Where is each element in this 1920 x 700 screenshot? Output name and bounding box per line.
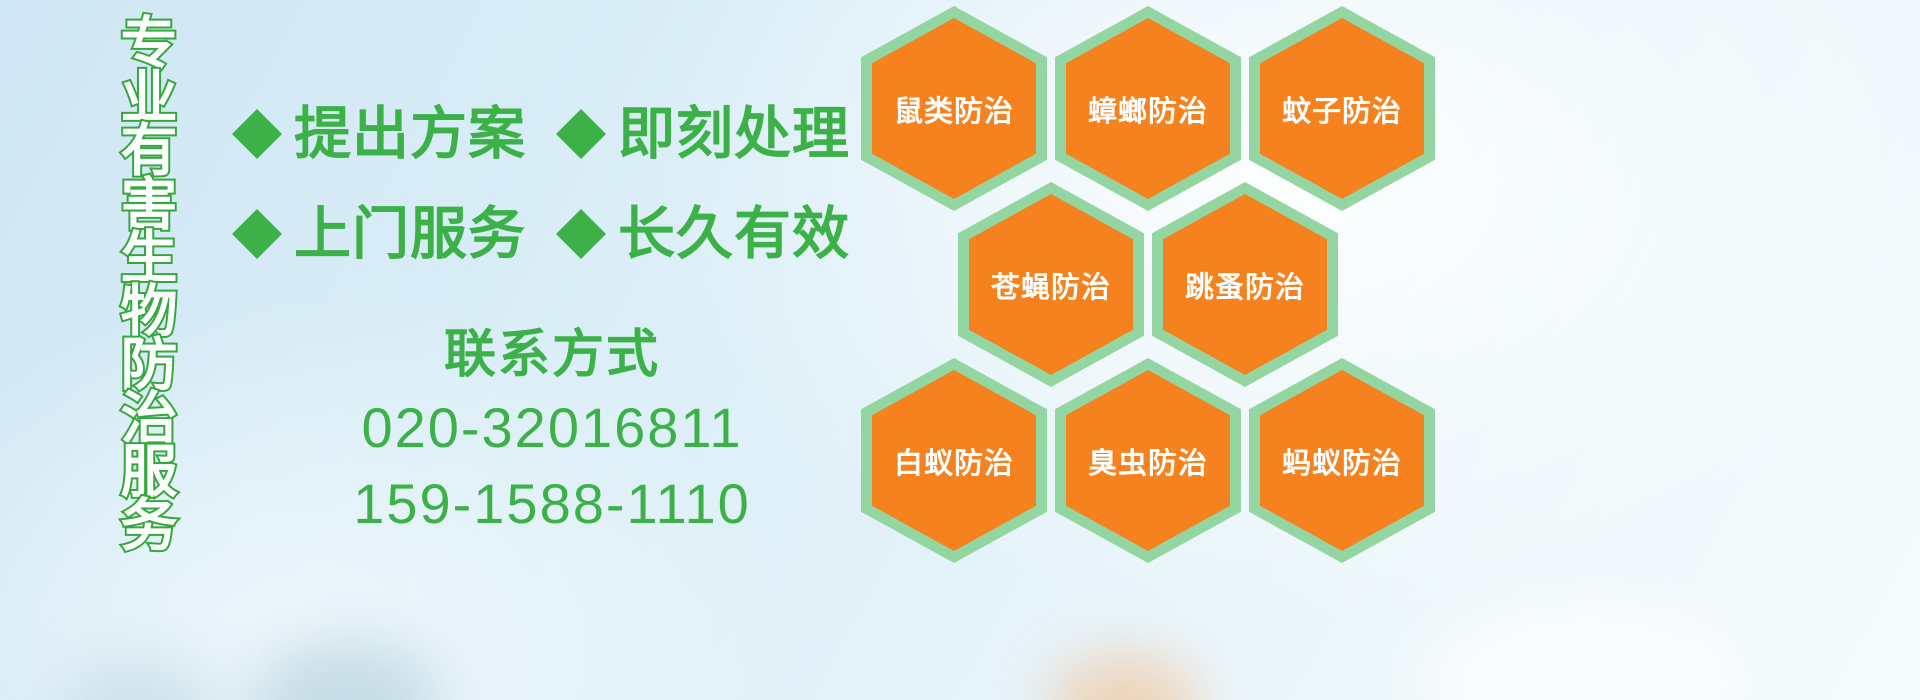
service-honeycomb: 鼠类防治 蟑螂防治 蚊子防治 苍蝇防治 跳蚤防治 白蚁防治: [855, 0, 1475, 700]
diamond-icon: [556, 184, 606, 234]
banner-root: 专 业 有 害 生 物 防 治 服 务 提出方案 即刻处理 上门服务: [0, 0, 1920, 700]
hex-inner: 跳蚤防治: [1163, 194, 1327, 375]
contact-title: 联系方式: [232, 320, 872, 390]
hex-label: 臭虫防治: [1088, 440, 1208, 482]
hex-cell-rodent[interactable]: 鼠类防治: [861, 6, 1047, 211]
feature-label: 上门服务: [294, 204, 526, 264]
feature-item-immediate-handling: 即刻处理: [556, 104, 850, 164]
feature-row: 上门服务 长久有效: [232, 184, 872, 284]
hex-cell-cockroach[interactable]: 蟑螂防治: [1055, 6, 1241, 211]
contact-block: 联系方式 020-32016811 159-1588-1110: [232, 320, 872, 542]
hex-inner: 白蚁防治: [872, 370, 1036, 551]
vertical-slogan-char: 专: [121, 18, 178, 72]
hex-cell-mosquito[interactable]: 蚊子防治: [1249, 6, 1435, 211]
hex-label: 蟑螂防治: [1088, 88, 1208, 130]
hex-inner: 鼠类防治: [872, 18, 1036, 199]
vertical-slogan-char: 生: [121, 232, 178, 286]
hex-label: 鼠类防治: [894, 88, 1014, 130]
background-blur-shape: [250, 640, 440, 700]
diamond-icon: [232, 84, 282, 134]
hex-label: 苍蝇防治: [991, 264, 1111, 306]
hex-label: 蚂蚁防治: [1282, 440, 1402, 482]
background-blur-shape: [60, 660, 220, 700]
feature-item-propose-plan: 提出方案: [232, 104, 526, 164]
contact-phone-landline[interactable]: 020-32016811: [232, 390, 872, 466]
hex-label: 蚊子防治: [1282, 88, 1402, 130]
hex-cell-termite[interactable]: 白蚁防治: [861, 358, 1047, 563]
hex-inner: 苍蝇防治: [969, 194, 1133, 375]
feature-label: 提出方案: [294, 104, 526, 164]
vertical-slogan-char: 害: [121, 179, 178, 233]
vertical-slogan-char: 服: [121, 446, 178, 500]
diamond-icon: [556, 84, 606, 134]
hex-cell-fly[interactable]: 苍蝇防治: [958, 182, 1144, 387]
feature-item-long-lasting: 长久有效: [556, 204, 850, 264]
feature-list: 提出方案 即刻处理 上门服务 长久有效: [232, 84, 872, 284]
feature-item-onsite-service: 上门服务: [232, 204, 526, 264]
vertical-slogan-char: 有: [121, 125, 178, 179]
hex-label: 白蚁防治: [894, 440, 1014, 482]
feature-label: 长久有效: [618, 204, 850, 264]
feature-row: 提出方案 即刻处理: [232, 84, 872, 184]
hex-cell-flea[interactable]: 跳蚤防治: [1152, 182, 1338, 387]
hex-inner: 臭虫防治: [1066, 370, 1230, 551]
vertical-slogan-char: 物: [121, 286, 178, 340]
hex-cell-bedbug[interactable]: 臭虫防治: [1055, 358, 1241, 563]
vertical-slogan-char: 务: [121, 500, 178, 554]
vertical-slogan-char: 治: [121, 393, 178, 447]
hex-label: 跳蚤防治: [1185, 264, 1305, 306]
contact-phone-mobile[interactable]: 159-1588-1110: [232, 466, 872, 542]
hex-inner: 蟑螂防治: [1066, 18, 1230, 199]
vertical-slogan-char: 业: [121, 72, 178, 126]
vertical-slogan-char: 防: [121, 339, 178, 393]
hex-inner: 蚊子防治: [1260, 18, 1424, 199]
hex-inner: 蚂蚁防治: [1260, 370, 1424, 551]
vertical-slogan: 专 业 有 害 生 物 防 治 服 务: [106, 18, 192, 553]
hex-cell-ant[interactable]: 蚂蚁防治: [1249, 358, 1435, 563]
feature-label: 即刻处理: [618, 104, 850, 164]
diamond-icon: [232, 184, 282, 234]
